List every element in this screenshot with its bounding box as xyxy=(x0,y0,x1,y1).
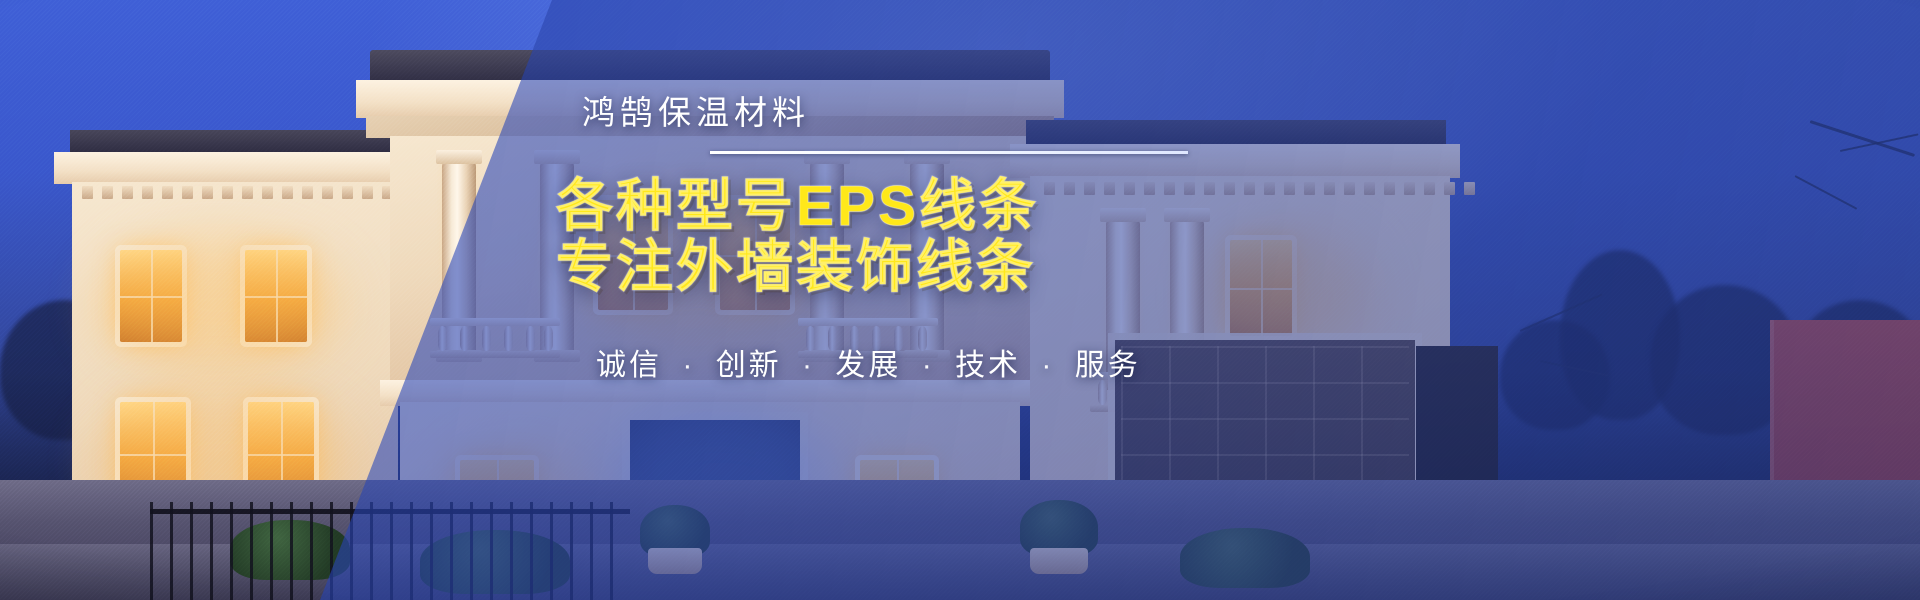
headline-line-1: 各种型号EPS线条 xyxy=(556,174,1039,238)
brand-name: 鸿鹄保温材料 xyxy=(582,96,1296,129)
tagline-separator-1: · xyxy=(802,349,815,382)
tagline-item-3: 技术 xyxy=(955,349,1021,382)
tagline-item-4: 服务 xyxy=(1075,349,1141,382)
tagline-item-2: 发展 xyxy=(835,349,901,382)
headline: 各种型号EPS线条 专注外墙装饰线条 xyxy=(556,176,1296,298)
tagline: 诚信 · 创新 · 发展 · 技术 · 服务 xyxy=(596,340,1296,384)
tagline-item-0: 诚信 xyxy=(596,349,662,382)
divider-rule xyxy=(710,151,1188,154)
tagline-item-1: 创新 xyxy=(716,349,782,382)
tagline-separator-3: · xyxy=(1041,349,1054,382)
banner-content: 鸿鹄保温材料 各种型号EPS线条 专注外墙装饰线条 诚信 · 创新 · 发展 ·… xyxy=(556,96,1296,384)
promo-banner: 鸿鹄保温材料 各种型号EPS线条 专注外墙装饰线条 诚信 · 创新 · 发展 ·… xyxy=(0,0,1920,600)
tagline-separator-0: · xyxy=(682,349,695,382)
headline-line-2: 专注外墙装饰线条 xyxy=(556,237,1296,298)
tagline-separator-2: · xyxy=(922,349,935,382)
